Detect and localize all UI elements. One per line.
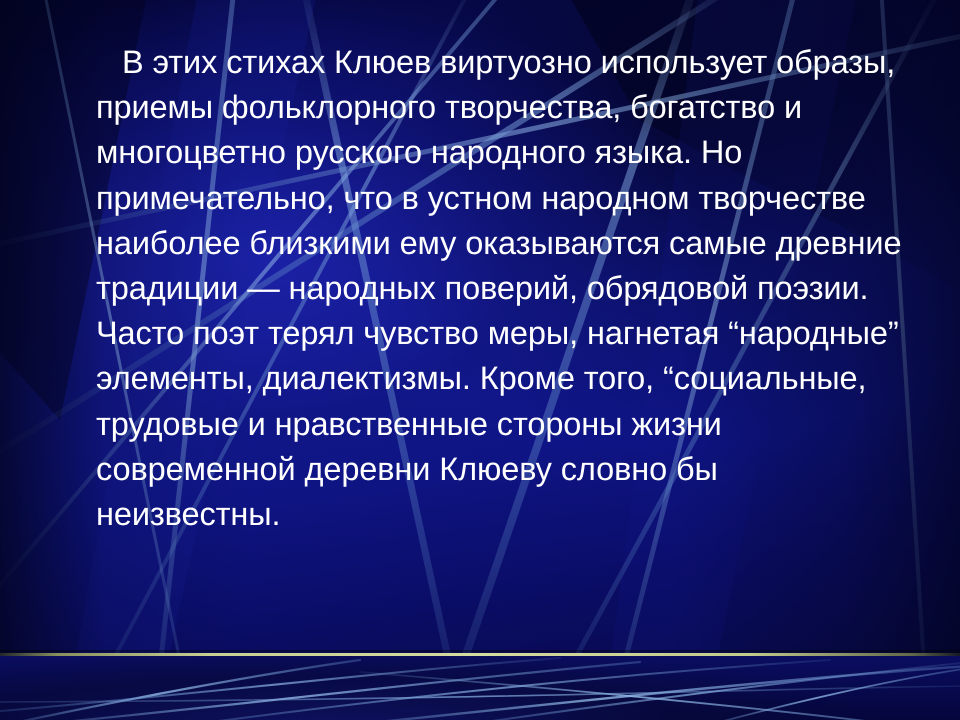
presentation-slide: В этих стихах Клюев виртуозно использует… bbox=[0, 0, 960, 720]
slide-body-text: В этих стихах Клюев виртуозно использует… bbox=[96, 40, 908, 537]
